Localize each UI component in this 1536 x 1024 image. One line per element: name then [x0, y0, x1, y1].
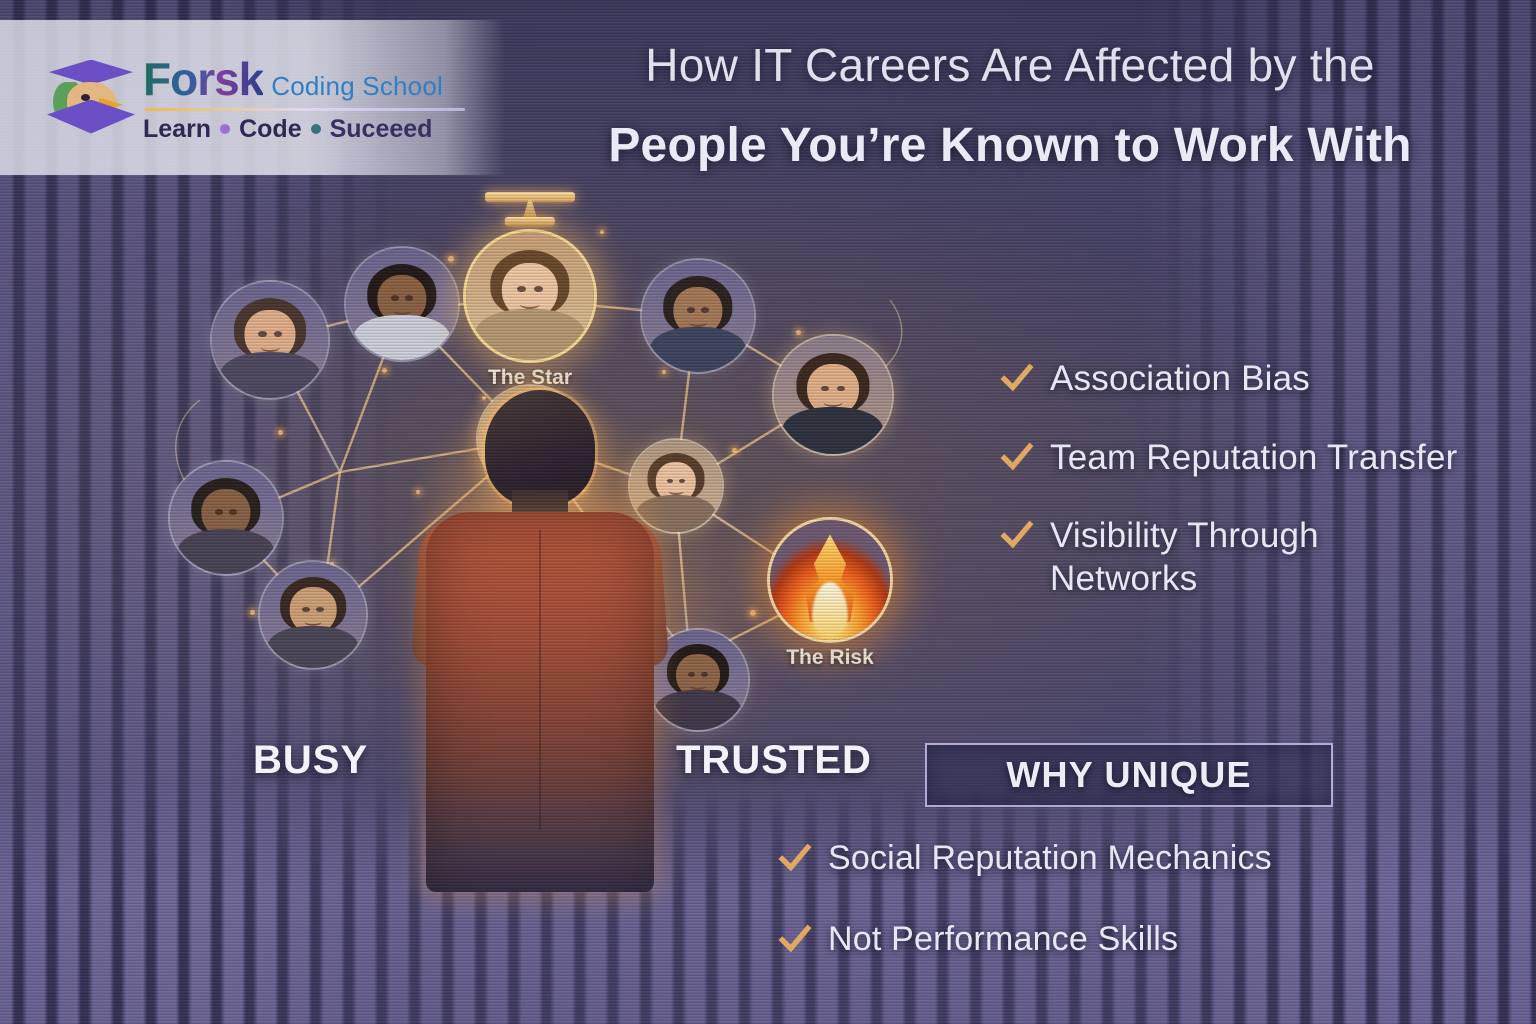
crown-icon — [485, 192, 575, 226]
list-item: Team Reputation Transfer — [1000, 437, 1520, 480]
list-item: Not Performance Skills — [778, 919, 1478, 960]
list-item: Visibility Through Networks — [1000, 515, 1520, 600]
the-risk-label: The Risk — [786, 646, 874, 670]
list-item-label: Team Reputation Transfer — [1050, 437, 1458, 480]
check-icon — [1000, 441, 1034, 475]
infographic-canvas: The Star — [0, 0, 1536, 1024]
page-title: How IT Careers Are Affected by the Peopl… — [500, 38, 1520, 175]
network-node-avatar[interactable] — [774, 336, 892, 454]
avatar — [170, 462, 282, 574]
list-item: Social Reputation Mechanics — [778, 838, 1478, 879]
list-item-label: Social Reputation Mechanics — [828, 838, 1272, 879]
list-item-label: Not Performance Skills — [828, 919, 1178, 960]
network-node-avatar[interactable] — [260, 562, 366, 668]
tagline-succeed: Suceeed — [330, 115, 433, 144]
check-icon — [778, 923, 812, 957]
brand-subtitle: Coding School — [271, 71, 443, 102]
center-figure — [422, 390, 658, 890]
logo-divider — [145, 108, 465, 111]
list-item: Association Bias — [1000, 358, 1520, 401]
avatar — [466, 232, 594, 360]
check-icon — [1000, 362, 1034, 396]
check-icon — [778, 842, 812, 876]
graduation-cap-icon — [45, 52, 137, 144]
bullet-dot-icon — [220, 124, 230, 134]
avatar — [774, 336, 892, 454]
list-item-label: Visibility Through Networks — [1050, 515, 1380, 600]
network-node-avatar[interactable] — [212, 282, 328, 398]
avatar — [260, 562, 366, 668]
bullet-list-bottom: Social Reputation Mechanics Not Performa… — [778, 838, 1478, 1001]
brand-tagline: Learn Code Suceeed — [143, 115, 465, 144]
why-unique-label: WHY UNIQUE — [1006, 754, 1251, 796]
brand-logo-panel[interactable]: Forsk Coding School Learn Code Suceeed — [0, 20, 505, 175]
label-busy: BUSY — [253, 738, 368, 783]
tagline-code: Code — [239, 115, 302, 144]
network-node-the-risk[interactable]: The Risk — [770, 520, 890, 640]
headline-line-2: People You’re Known to Work With — [500, 117, 1520, 175]
list-item-label: Association Bias — [1050, 358, 1310, 401]
network-node-the-star[interactable]: The Star — [466, 232, 594, 360]
network-illustration: The Star — [130, 190, 960, 890]
brand-name: Forsk — [143, 52, 263, 106]
bullet-list-top: Association Bias Team Reputation Transfe… — [1000, 358, 1520, 601]
check-icon — [1000, 519, 1034, 553]
label-trusted: TRUSTED — [676, 738, 872, 783]
network-node-avatar[interactable] — [170, 462, 282, 574]
flame-icon — [770, 520, 890, 640]
tagline-learn: Learn — [143, 115, 211, 144]
avatar — [212, 282, 328, 398]
bullet-dot-icon — [311, 124, 321, 134]
why-unique-badge[interactable]: WHY UNIQUE — [925, 743, 1333, 807]
headline-line-1: How IT Careers Are Affected by the — [500, 38, 1520, 93]
figure-head — [485, 390, 595, 506]
